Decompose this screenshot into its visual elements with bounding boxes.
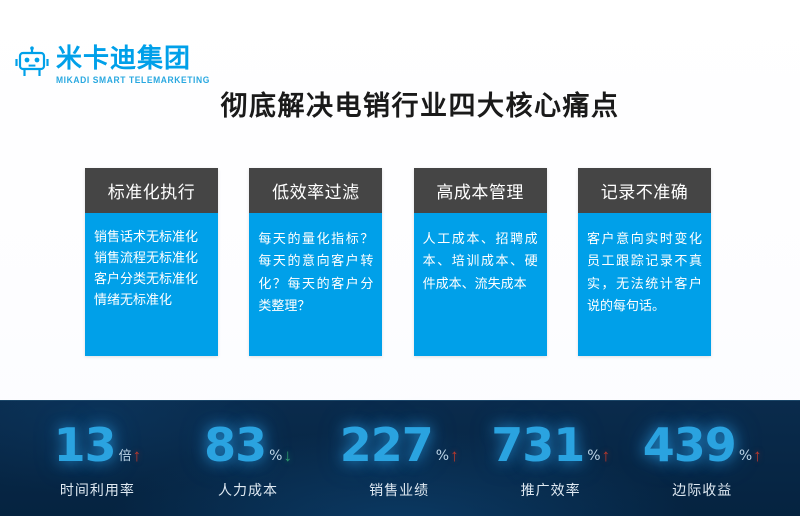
metric-value-row: 731 % ↑	[491, 418, 610, 468]
robot-head-icon	[14, 46, 50, 80]
metric-value: 439	[643, 422, 736, 468]
card-body-line: 销售流程无标准化	[94, 248, 209, 269]
metric-item: 13 倍 ↑ 时间利用率	[38, 418, 156, 500]
metric-label: 销售业绩	[369, 480, 429, 500]
metric-value-row: 83 % ↓	[204, 418, 292, 468]
logo-name-cn: 米卡迪集团	[56, 46, 210, 72]
metric-value: 227	[340, 422, 433, 468]
metrics-band: 13 倍 ↑ 时间利用率 83 % ↓ 人力成本 227 % ↑ 销售业绩	[0, 400, 800, 516]
card-heading: 高成本管理	[414, 168, 547, 213]
pain-point-card: 标准化执行 销售话术无标准化 销售流程无标准化 客户分类无标准化 情绪无标准化	[85, 168, 218, 356]
metric-label: 时间利用率	[60, 480, 135, 500]
metric-label: 推广效率	[521, 480, 581, 500]
card-heading: 记录不准确	[578, 168, 711, 213]
metric-unit: %	[739, 448, 752, 464]
metric-label: 边际收益	[672, 480, 732, 500]
metric-value: 83	[204, 422, 266, 468]
card-body-line: 销售话术无标准化	[94, 227, 209, 248]
trend-up-icon: ↑	[450, 447, 459, 464]
metric-value: 13	[54, 422, 116, 468]
pain-point-card: 记录不准确 客户意向实时变化员工跟踪记录不真实，无法统计客户说的每句话。	[578, 168, 711, 356]
card-body: 人工成本、招聘成本、培训成本、硬件成本、流失成本	[414, 213, 547, 356]
trend-up-icon: ↑	[133, 447, 142, 464]
metric-unit: %	[587, 448, 600, 464]
metric-unit: %	[269, 448, 282, 464]
metric-unit: %	[436, 448, 449, 464]
metric-item: 439 % ↑ 边际收益	[643, 418, 762, 500]
page-title: 彻底解决电销行业四大核心痛点	[0, 84, 800, 123]
metric-item: 83 % ↓ 人力成本	[189, 418, 307, 500]
card-body: 销售话术无标准化 销售流程无标准化 客户分类无标准化 情绪无标准化	[85, 213, 218, 356]
metric-value-row: 439 % ↑	[643, 418, 762, 468]
trend-up-icon: ↑	[753, 447, 762, 464]
metric-value: 731	[491, 422, 584, 468]
pain-point-card: 低效率过滤 每天的量化指标？每天的意向客户转化？每天的客户分类整理？	[249, 168, 382, 356]
metric-label: 人力成本	[218, 480, 278, 500]
trend-down-icon: ↓	[283, 447, 292, 464]
card-body-line: 情绪无标准化	[94, 290, 209, 311]
card-heading: 低效率过滤	[249, 168, 382, 213]
pain-point-card: 高成本管理 人工成本、招聘成本、培训成本、硬件成本、流失成本	[414, 168, 547, 356]
slide-root: 米卡迪集团 MIKADI SMART TELEMARKETING 彻底解决电销行…	[0, 0, 800, 516]
card-heading: 标准化执行	[85, 168, 218, 213]
pain-point-card-list: 标准化执行 销售话术无标准化 销售流程无标准化 客户分类无标准化 情绪无标准化 …	[85, 168, 711, 356]
card-body: 客户意向实时变化员工跟踪记录不真实，无法统计客户说的每句话。	[578, 213, 711, 356]
trend-up-icon: ↑	[602, 447, 611, 464]
metric-value-row: 13 倍 ↑	[54, 418, 142, 468]
brand-logo: 米卡迪集团 MIKADI SMART TELEMARKETING	[14, 46, 210, 85]
card-body: 每天的量化指标？每天的意向客户转化？每天的客户分类整理？	[249, 213, 382, 356]
card-body-line: 客户分类无标准化	[94, 269, 209, 290]
metric-item: 227 % ↑ 销售业绩	[340, 418, 459, 500]
metric-unit: 倍	[119, 445, 132, 464]
metric-value-row: 227 % ↑	[340, 418, 459, 468]
metric-item: 731 % ↑ 推广效率	[491, 418, 610, 500]
